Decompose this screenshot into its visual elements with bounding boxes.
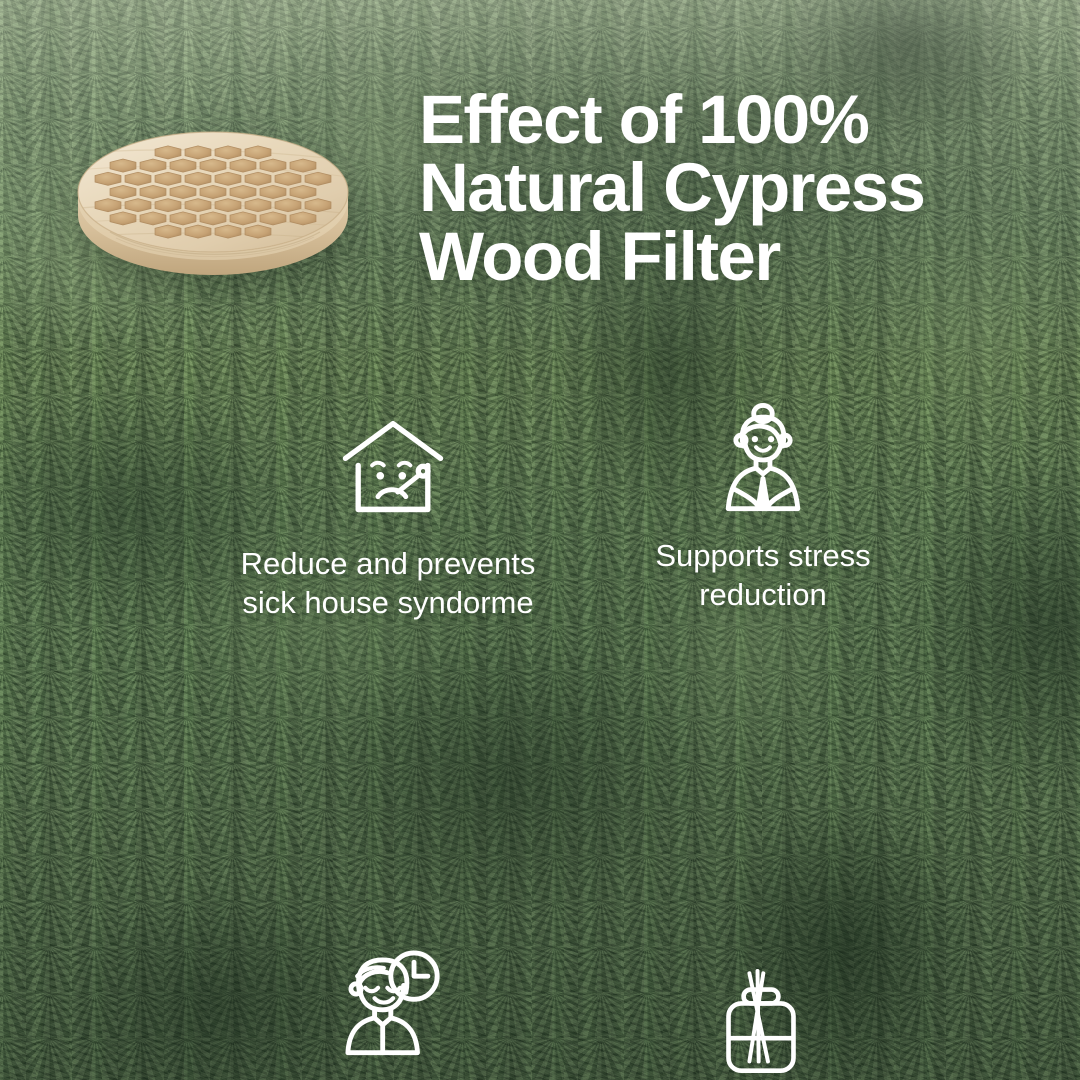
honeycomb-hole (245, 225, 271, 238)
honeycomb-hole (185, 225, 211, 238)
honeycomb-hole (215, 146, 241, 159)
honeycomb-hole (200, 185, 226, 198)
honeycomb-hole (140, 185, 166, 198)
meditating-person-icon (705, 402, 821, 518)
honeycomb-hole (185, 146, 211, 159)
title-line-3: Wood Filter (419, 223, 1059, 291)
honeycomb-hole (155, 225, 181, 238)
honeycomb-hole (215, 225, 241, 238)
honeycomb-hole (260, 212, 286, 225)
honeycomb-hole (305, 172, 331, 185)
cypress-wood-filter-image (70, 112, 356, 292)
honeycomb-hole (185, 172, 211, 185)
sad-house-icon (335, 412, 451, 528)
honeycomb-hole (260, 185, 286, 198)
honeycomb-hole (275, 172, 301, 185)
honeycomb-hole (275, 199, 301, 212)
honeycomb-hole (215, 199, 241, 212)
honeycomb-hole (95, 172, 121, 185)
product-feature-poster: Effect of 100% Natural Cypress Wood Filt… (0, 0, 1080, 1080)
page-title: Effect of 100% Natural Cypress Wood Filt… (419, 86, 1059, 291)
honeycomb-hole (245, 172, 271, 185)
honeycomb-hole (230, 185, 256, 198)
feature-item-concentration-memorization: Enhances concentration and memorization (185, 664, 565, 932)
honeycomb-hole (95, 199, 121, 212)
honeycomb-hole (290, 185, 316, 198)
honeycomb-hole (170, 212, 196, 225)
honeycomb-hole (185, 199, 211, 212)
honeycomb-hole (125, 172, 151, 185)
honeycomb-hole (140, 212, 166, 225)
honeycomb-hole (200, 159, 226, 172)
feature-item-sick-house-syndrome: Reduce and prevents sick house syndorme (185, 396, 565, 664)
honeycomb-hole (215, 172, 241, 185)
honeycomb-hole (155, 146, 181, 159)
honeycomb-hole (290, 212, 316, 225)
honeycomb-hole (200, 212, 226, 225)
title-line-1: Effect of 100% (419, 86, 1059, 154)
honeycomb-hole (245, 146, 271, 159)
honeycomb-hole (110, 159, 136, 172)
honeycomb-hole (260, 159, 286, 172)
honeycomb-hole (140, 159, 166, 172)
honeycomb-hole (290, 159, 316, 172)
focused-person-clock-icon (327, 946, 443, 1062)
feature-item-stress-reduction: Supports stress reduction (565, 396, 945, 664)
honeycomb-hole (230, 159, 256, 172)
honeycomb-hole (305, 199, 331, 212)
honeycomb-hole (245, 199, 271, 212)
honeycomb-hole (110, 185, 136, 198)
feature-grid: Reduce and prevents sick house syndorme (185, 396, 945, 932)
honeycomb-hole (110, 212, 136, 225)
honeycomb-hole (170, 185, 196, 198)
honeycomb-hole (155, 199, 181, 212)
honeycomb-hole (125, 199, 151, 212)
honeycomb-hole (155, 172, 181, 185)
honeycomb-hole (170, 159, 196, 172)
feature-caption: Reduce and prevents sick house syndorme (203, 544, 573, 623)
reed-diffuser-icon (703, 964, 819, 1080)
feature-item-aromatherapy: Aromatherapy function (565, 664, 945, 932)
title-line-2: Natural Cypress (419, 154, 1059, 222)
feature-caption: Supports stress reduction (605, 536, 921, 615)
honeycomb-hole (230, 212, 256, 225)
